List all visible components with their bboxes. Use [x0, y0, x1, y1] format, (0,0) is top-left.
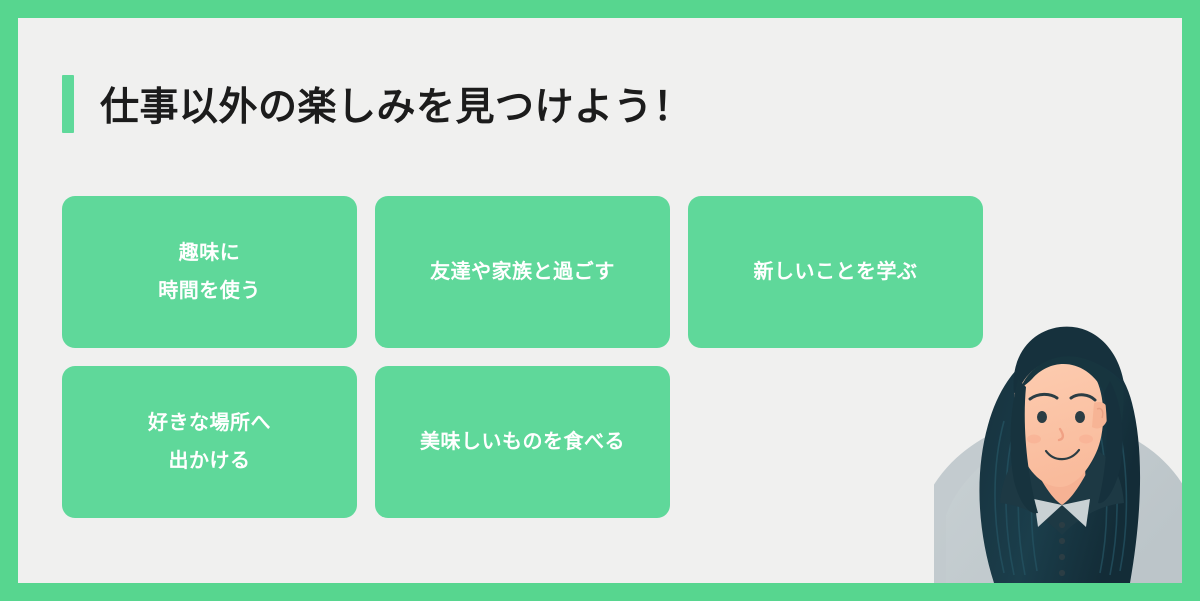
shirt-button: [1059, 522, 1065, 528]
eye-left: [1037, 411, 1047, 423]
page-title: 仕事以外の楽しみを見つけよう！: [62, 73, 693, 135]
card-item[interactable]: 趣味に 時間を使う: [62, 196, 357, 348]
shirt-button: [1059, 554, 1065, 560]
shirt-button: [1059, 538, 1065, 544]
slide-frame: 仕事以外の楽しみを見つけよう！ 趣味に 時間を使う 友達や家族と過ごす 新しいこ…: [0, 0, 1200, 601]
cheek-left: [1027, 435, 1041, 444]
card-item[interactable]: 美味しいものを食べる: [375, 366, 670, 518]
cheek-right: [1079, 435, 1093, 444]
card-grid: 趣味に 時間を使う 友達や家族と過ごす 新しいことを学ぶ 好きな場所へ 出かける…: [62, 196, 1002, 518]
card-label: 美味しいものを食べる: [420, 423, 625, 461]
shirt-button: [1059, 570, 1065, 576]
slide-content: 仕事以外の楽しみを見つけよう！ 趣味に 時間を使う 友達や家族と過ごす 新しいこ…: [18, 18, 1182, 583]
title-accent-bar: [62, 75, 74, 133]
card-label: 好きな場所へ 出かける: [148, 404, 271, 480]
card-label: 友達や家族と過ごす: [430, 253, 615, 291]
card-label: 新しいことを学ぶ: [754, 253, 918, 291]
eye-right: [1075, 411, 1085, 423]
smiling-woman-illustration: [934, 253, 1182, 583]
page-title-text: 仕事以外の楽しみを見つけよう！: [100, 76, 693, 132]
card-item[interactable]: 好きな場所へ 出かける: [62, 366, 357, 518]
card-label: 趣味に 時間を使う: [158, 234, 261, 310]
card-item[interactable]: 友達や家族と過ごす: [375, 196, 670, 348]
